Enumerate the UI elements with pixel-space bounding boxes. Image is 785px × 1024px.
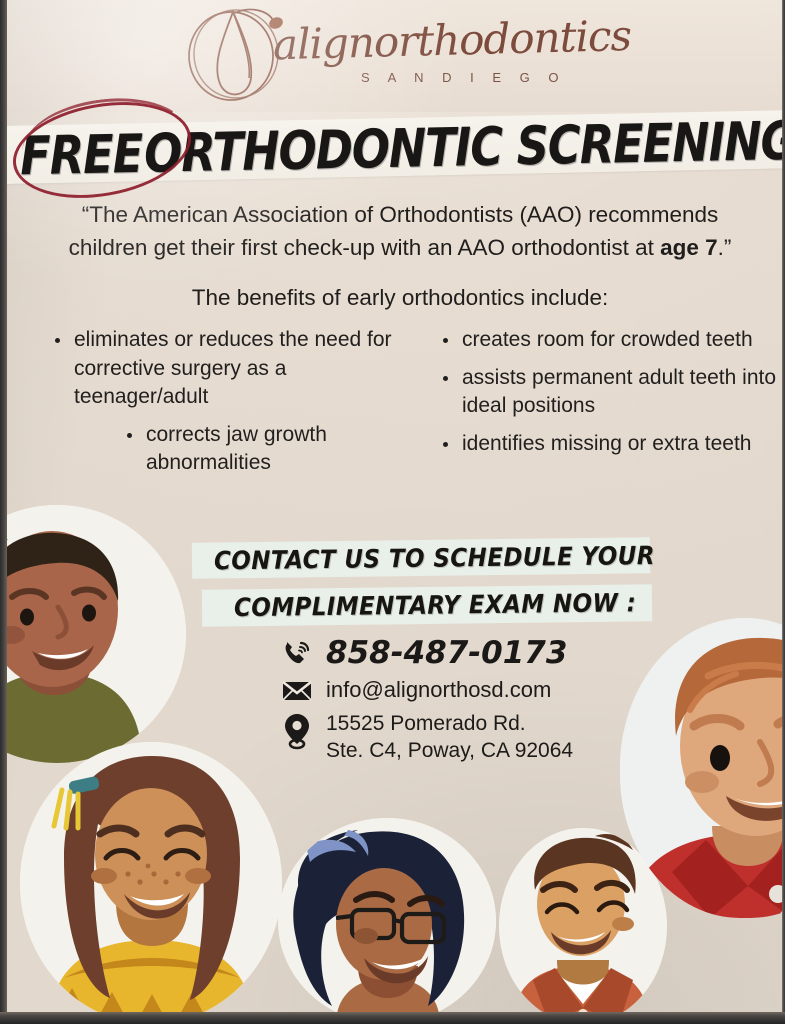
envelope-icon: [282, 677, 326, 703]
map-pin-icon: [282, 710, 326, 750]
email-address[interactable]: info@alignorthosd.com: [326, 677, 551, 703]
contact-phone-row[interactable]: 858-487-0173: [282, 636, 702, 670]
portrait-man-olive-shirt: [6, 505, 186, 763]
portrait-girl-yellow-top: [20, 742, 282, 1013]
contact-email-row[interactable]: info@alignorthosd.com: [282, 677, 702, 703]
phone-icon: [282, 636, 326, 668]
contact-address-row[interactable]: 15525 Pomerado Rd. Ste. C4, Poway, CA 92…: [282, 710, 702, 764]
address-line-2: Ste. C4, Poway, CA 92064: [326, 737, 573, 764]
cta-line-2: COMPLIMENTARY EXAM NOW :: [234, 589, 637, 623]
portrait-girl-glasses: [278, 818, 496, 1013]
headline-rest: ORTHODONTIC SCREENING!: [144, 108, 783, 184]
phone-number[interactable]: 858-487-0173: [326, 636, 567, 670]
flyer-screenshot: alignorthodontics S A N D I E G O FREEOR…: [0, 0, 785, 1024]
flyer-paper: alignorthodontics S A N D I E G O FREEOR…: [6, 0, 783, 1013]
contact-details: 858-487-0173 info@alignorthosd.com: [282, 636, 702, 771]
cta-line-1: CONTACT US TO SCHEDULE YOUR: [214, 542, 655, 576]
desk-edge-bottom: [0, 1012, 785, 1024]
desk-edge-left: [0, 0, 7, 1024]
address-block: 15525 Pomerado Rd. Ste. C4, Poway, CA 92…: [326, 710, 573, 764]
address-line-1: 15525 Pomerado Rd.: [326, 710, 573, 737]
